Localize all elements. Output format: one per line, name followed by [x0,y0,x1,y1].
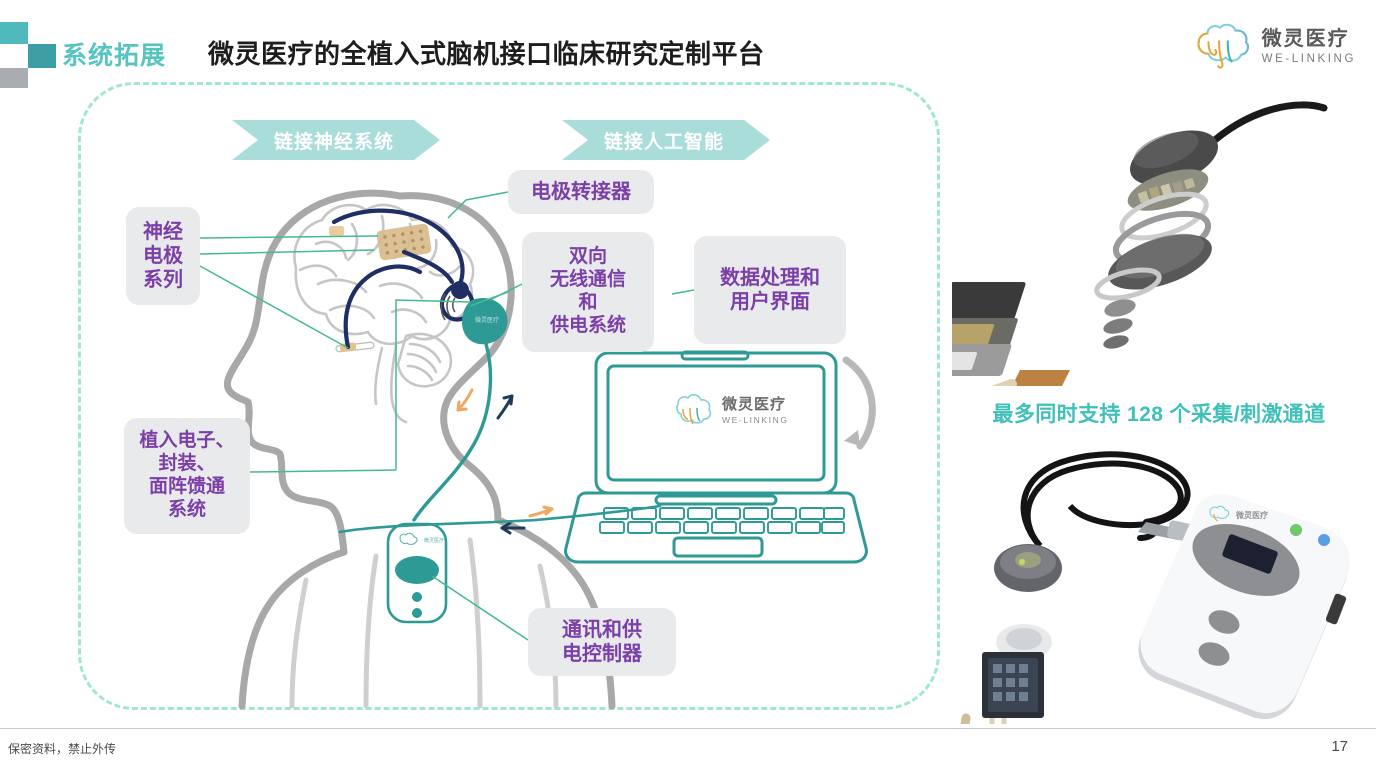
decoration-square-teal [0,22,28,44]
banner-label: 链接人工智能 [604,127,724,154]
header-tag: 系统拓展 [62,36,166,72]
callout-label: 电极转接器 [531,180,631,204]
page-number: 17 [1331,738,1348,755]
callout-comm-power-controller: 通讯和供 电控制器 [528,608,676,676]
callout-bidirectional-wireless: 双向 无线通信 和 供电系统 [522,232,654,352]
banner-link-ai: 链接人工智能 [562,120,770,160]
handheld-controller-photo-icon: 微灵医疗 [952,434,1366,724]
callout-label: 植入电子、 封装、 面阵馈通 系统 [139,430,234,521]
callout-label: 数据处理和 用户界面 [720,266,820,314]
header-decoration-squares [0,22,56,88]
page-title: 微灵医疗的全植入式脑机接口临床研究定制平台 [208,34,765,71]
coil-puck-photo-icon [994,544,1062,592]
confidential-notice: 保密资料，禁止外传 [8,740,116,757]
exploded-implant-photo-icon [952,86,1366,386]
brain-cloud-logo-icon [1190,22,1252,72]
banner-label: 链接神经系统 [274,127,394,154]
callout-implant-electronics: 植入电子、 封装、 面阵馈通 系统 [124,418,250,534]
feedthrough-module-photo-icon [960,624,1052,724]
right-column: 最多同时支持 128 个采集/刺激通道 [952,86,1366,712]
svg-text:微灵医疗: 微灵医疗 [1235,510,1268,520]
brand-text: 微灵医疗 WE-LINKING [1262,29,1356,66]
decoration-square-dark-teal [28,44,56,68]
callout-data-processing-ui: 数据处理和 用户界面 [694,236,846,344]
brand-name-en: WE-LINKING [1262,54,1356,66]
channel-count-text: 最多同时支持 128 个采集/刺激通道 [952,398,1366,428]
brand-logo: 微灵医疗 WE-LINKING [1190,22,1356,72]
slide-root: 系统拓展 微灵医疗的全植入式脑机接口临床研究定制平台 微灵医疗 WE-LINKI… [0,0,1376,766]
decoration-square-gray [0,68,28,88]
callout-label: 神经 电极 系列 [143,220,183,292]
brand-name-cn: 微灵医疗 [1262,29,1356,49]
callout-label: 通讯和供 电控制器 [562,618,642,666]
callout-nerve-electrode-series: 神经 电极 系列 [126,207,200,305]
footer-divider [0,728,1376,729]
callout-electrode-adapter: 电极转接器 [508,170,654,214]
callout-label: 双向 无线通信 和 供电系统 [550,246,626,337]
banner-link-nervous-system: 链接神经系统 [232,120,440,160]
